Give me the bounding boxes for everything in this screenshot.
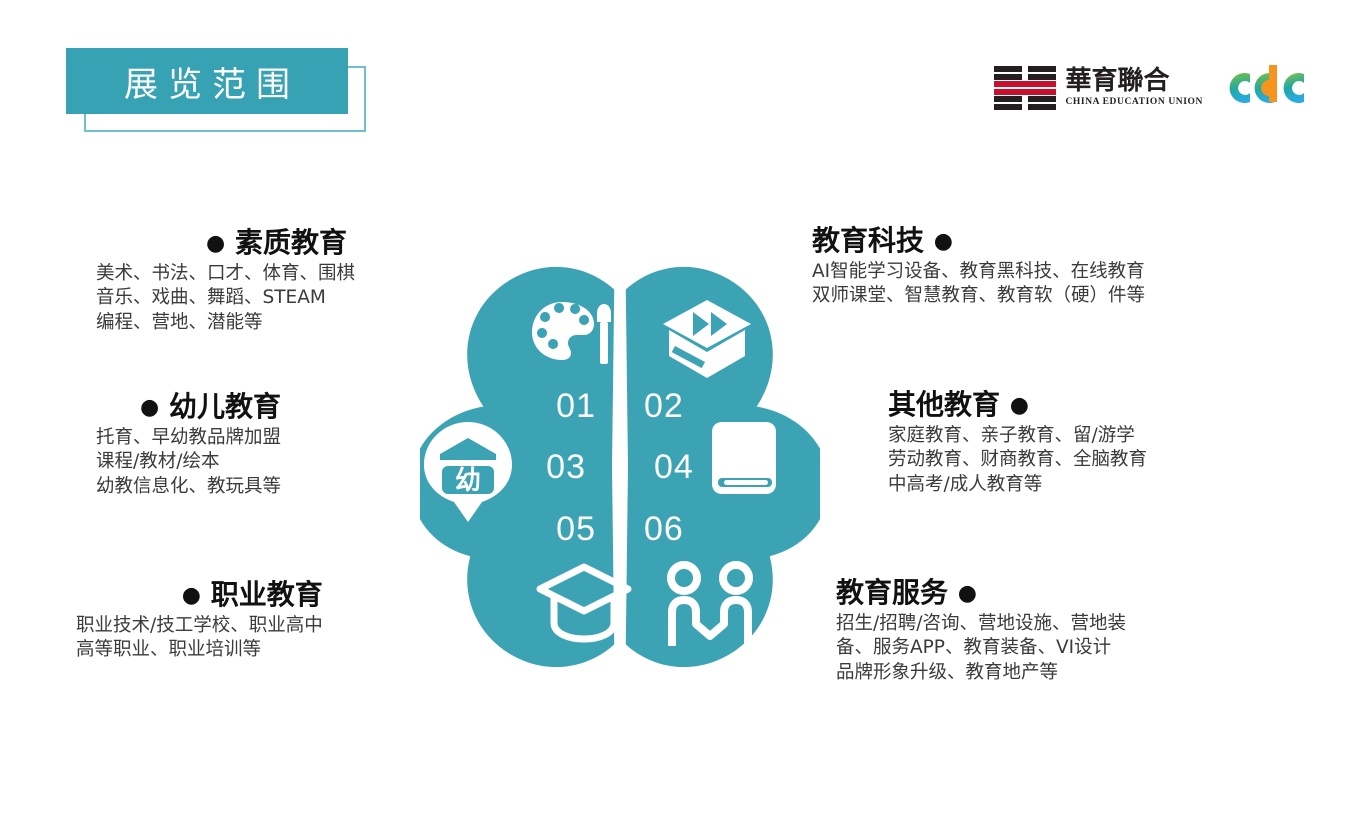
category-title-04: 其他教育 ● (888, 390, 1147, 421)
bullet-dot-icon: ● (140, 395, 159, 420)
category-line: 备、服务APP、教育装备、VI设计 (836, 636, 1126, 660)
book-icon (712, 422, 776, 494)
petal-number-01: 01 (556, 387, 596, 425)
category-title-01: ● 素质教育 (96, 228, 355, 259)
category-line: 幼教信息化、教玩具等 (96, 475, 281, 499)
bullet-dot-icon: ● (934, 229, 953, 254)
logo-name-en: CHINA EDUCATION UNION (1065, 98, 1203, 108)
bullet-dot-icon: ● (206, 231, 225, 256)
category-line: 双师课堂、智慧教育、教育软（硬）件等 (812, 284, 1145, 308)
category-block-05: ● 职业教育 职业技术/技工学校、职业高中 高等职业、职业培训等 (76, 580, 323, 663)
category-body-05: 职业技术/技工学校、职业高中 高等职业、职业培训等 (76, 614, 323, 663)
category-line: 课程/教材/绘本 (96, 450, 281, 474)
category-line: 招生/招聘/咨询、营地设施、营地装 (836, 612, 1126, 636)
category-line: 美术、书法、口才、体育、围棋 (96, 262, 355, 286)
category-body-06: 招生/招聘/咨询、营地设施、营地装 备、服务APP、教育装备、VI设计 品牌形象… (836, 612, 1126, 685)
category-block-01: ● 素质教育 美术、书法、口才、体育、围棋 音乐、戏曲、舞蹈、STEAM 编程、… (96, 228, 355, 335)
category-line: 家庭教育、亲子教育、留/游学 (888, 424, 1147, 448)
category-title-05: ● 职业教育 (76, 580, 323, 611)
svg-text:幼: 幼 (455, 466, 481, 496)
bullet-dot-icon: ● (182, 583, 201, 608)
category-title-06: 教育服务 ● (836, 578, 1126, 609)
page-title-block: 展览范围 (66, 48, 368, 134)
category-block-06: 教育服务 ● 招生/招聘/咨询、营地设施、营地装 备、服务APP、教育装备、VI… (836, 578, 1126, 685)
petal-number-03: 03 (546, 448, 586, 486)
category-line: 劳动教育、财商教育、全脑教育 (888, 448, 1147, 472)
petal-number-04: 04 (654, 448, 694, 486)
page-title: 展览范围 (66, 48, 348, 114)
category-line: 高等职业、职业培训等 (76, 638, 323, 662)
category-line: 编程、营地、潜能等 (96, 311, 355, 335)
category-block-04: 其他教育 ● 家庭教育、亲子教育、留/游学 劳动教育、财商教育、全脑教育 中高考… (888, 390, 1147, 497)
logo-bar-row (994, 66, 1056, 72)
category-body-02: AI智能学习设备、教育黑科技、在线教育 双师课堂、智慧教育、教育软（硬）件等 (812, 260, 1145, 309)
petal-number-05: 05 (556, 510, 596, 548)
logo-china-education-union: 華育聯合 CHINA EDUCATION UNION (994, 66, 1203, 110)
iching-bars-logo-icon (994, 66, 1056, 110)
logo-bar-row (994, 96, 1056, 102)
category-body-01: 美术、书法、口才、体育、围棋 音乐、戏曲、舞蹈、STEAM 编程、营地、潜能等 (96, 262, 355, 335)
category-line: 中高考/成人教育等 (888, 473, 1147, 497)
category-line: 音乐、戏曲、舞蹈、STEAM (96, 286, 355, 310)
bullet-dot-icon: ● (958, 581, 977, 606)
logo-bar-row (994, 74, 1056, 80)
logo-bar-row (994, 104, 1056, 110)
category-block-03: ● 幼儿教育 托育、早幼教品牌加盟 课程/教材/绘本 幼教信息化、教玩具等 (96, 392, 281, 499)
category-line: 托育、早幼教品牌加盟 (96, 426, 281, 450)
petal-number-06: 06 (644, 510, 684, 548)
bullet-dot-icon: ● (1010, 393, 1029, 418)
category-line: 品牌形象升级、教育地产等 (836, 661, 1126, 685)
logo-bar-row-accent (994, 81, 1056, 87)
cdc-logo-icon (1221, 65, 1307, 111)
category-body-04: 家庭教育、亲子教育、留/游学 劳动教育、财商教育、全脑教育 中高考/成人教育等 (888, 424, 1147, 497)
category-title-02: 教育科技 ● (812, 226, 1145, 257)
category-line: 职业技术/技工学校、职业高中 (76, 614, 323, 638)
category-body-03: 托育、早幼教品牌加盟 课程/教材/绘本 幼教信息化、教玩具等 (96, 426, 281, 499)
logo-name-cn: 華育聯合 (1065, 68, 1169, 94)
six-petal-flower-diagram: 01 02 03 04 05 06 幼 (420, 222, 820, 712)
category-line: AI智能学习设备、教育黑科技、在线教育 (812, 260, 1145, 284)
category-title-03: ● 幼儿教育 (96, 392, 281, 423)
logo-bar-row-accent (994, 89, 1056, 95)
category-block-02: 教育科技 ● AI智能学习设备、教育黑科技、在线教育 双师课堂、智慧教育、教育软… (812, 226, 1145, 309)
logo-primary-wordmark: 華育聯合 CHINA EDUCATION UNION (1065, 68, 1203, 108)
petal-number-02: 02 (644, 387, 684, 425)
logo-area: 華育聯合 CHINA EDUCATION UNION (994, 57, 1307, 119)
